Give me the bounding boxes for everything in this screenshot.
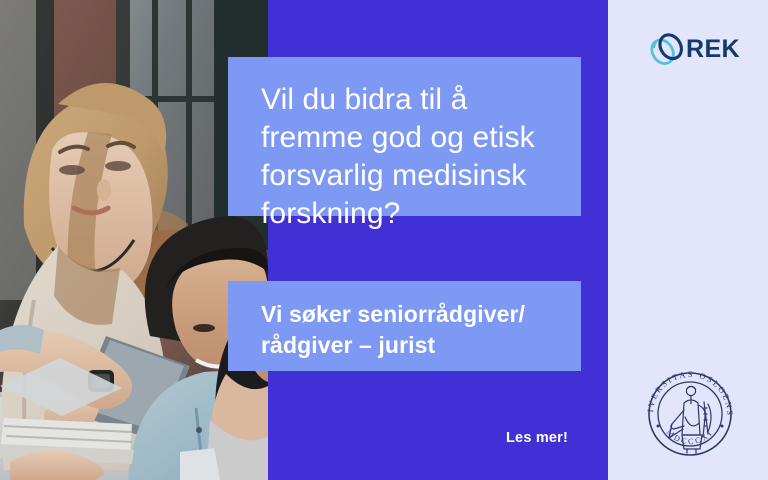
headline-text: Vil du bidra til å fremme god og etisk f… <box>261 81 553 233</box>
job-title-text: Vi søker seniorrådgiver/ rådgiver – juri… <box>261 299 561 361</box>
rek-wordmark: REK <box>686 37 740 62</box>
uio-seal-icon: UNIVERSITAS OSLOENSIS MDCCCXI <box>638 362 742 466</box>
uio-seal: UNIVERSITAS OSLOENSIS MDCCCXI <box>638 362 742 466</box>
headline-box: Vil du bidra til å fremme god og etisk f… <box>228 57 581 216</box>
interlocking-rings-icon <box>648 27 686 71</box>
les-mer-link[interactable]: Les mer! <box>506 430 568 446</box>
recruitment-banner: Vil du bidra til å fremme god og etisk f… <box>0 0 768 480</box>
rek-logo[interactable]: REK <box>648 25 740 73</box>
job-title-box: Vi søker seniorrådgiver/ rådgiver – juri… <box>228 281 581 371</box>
